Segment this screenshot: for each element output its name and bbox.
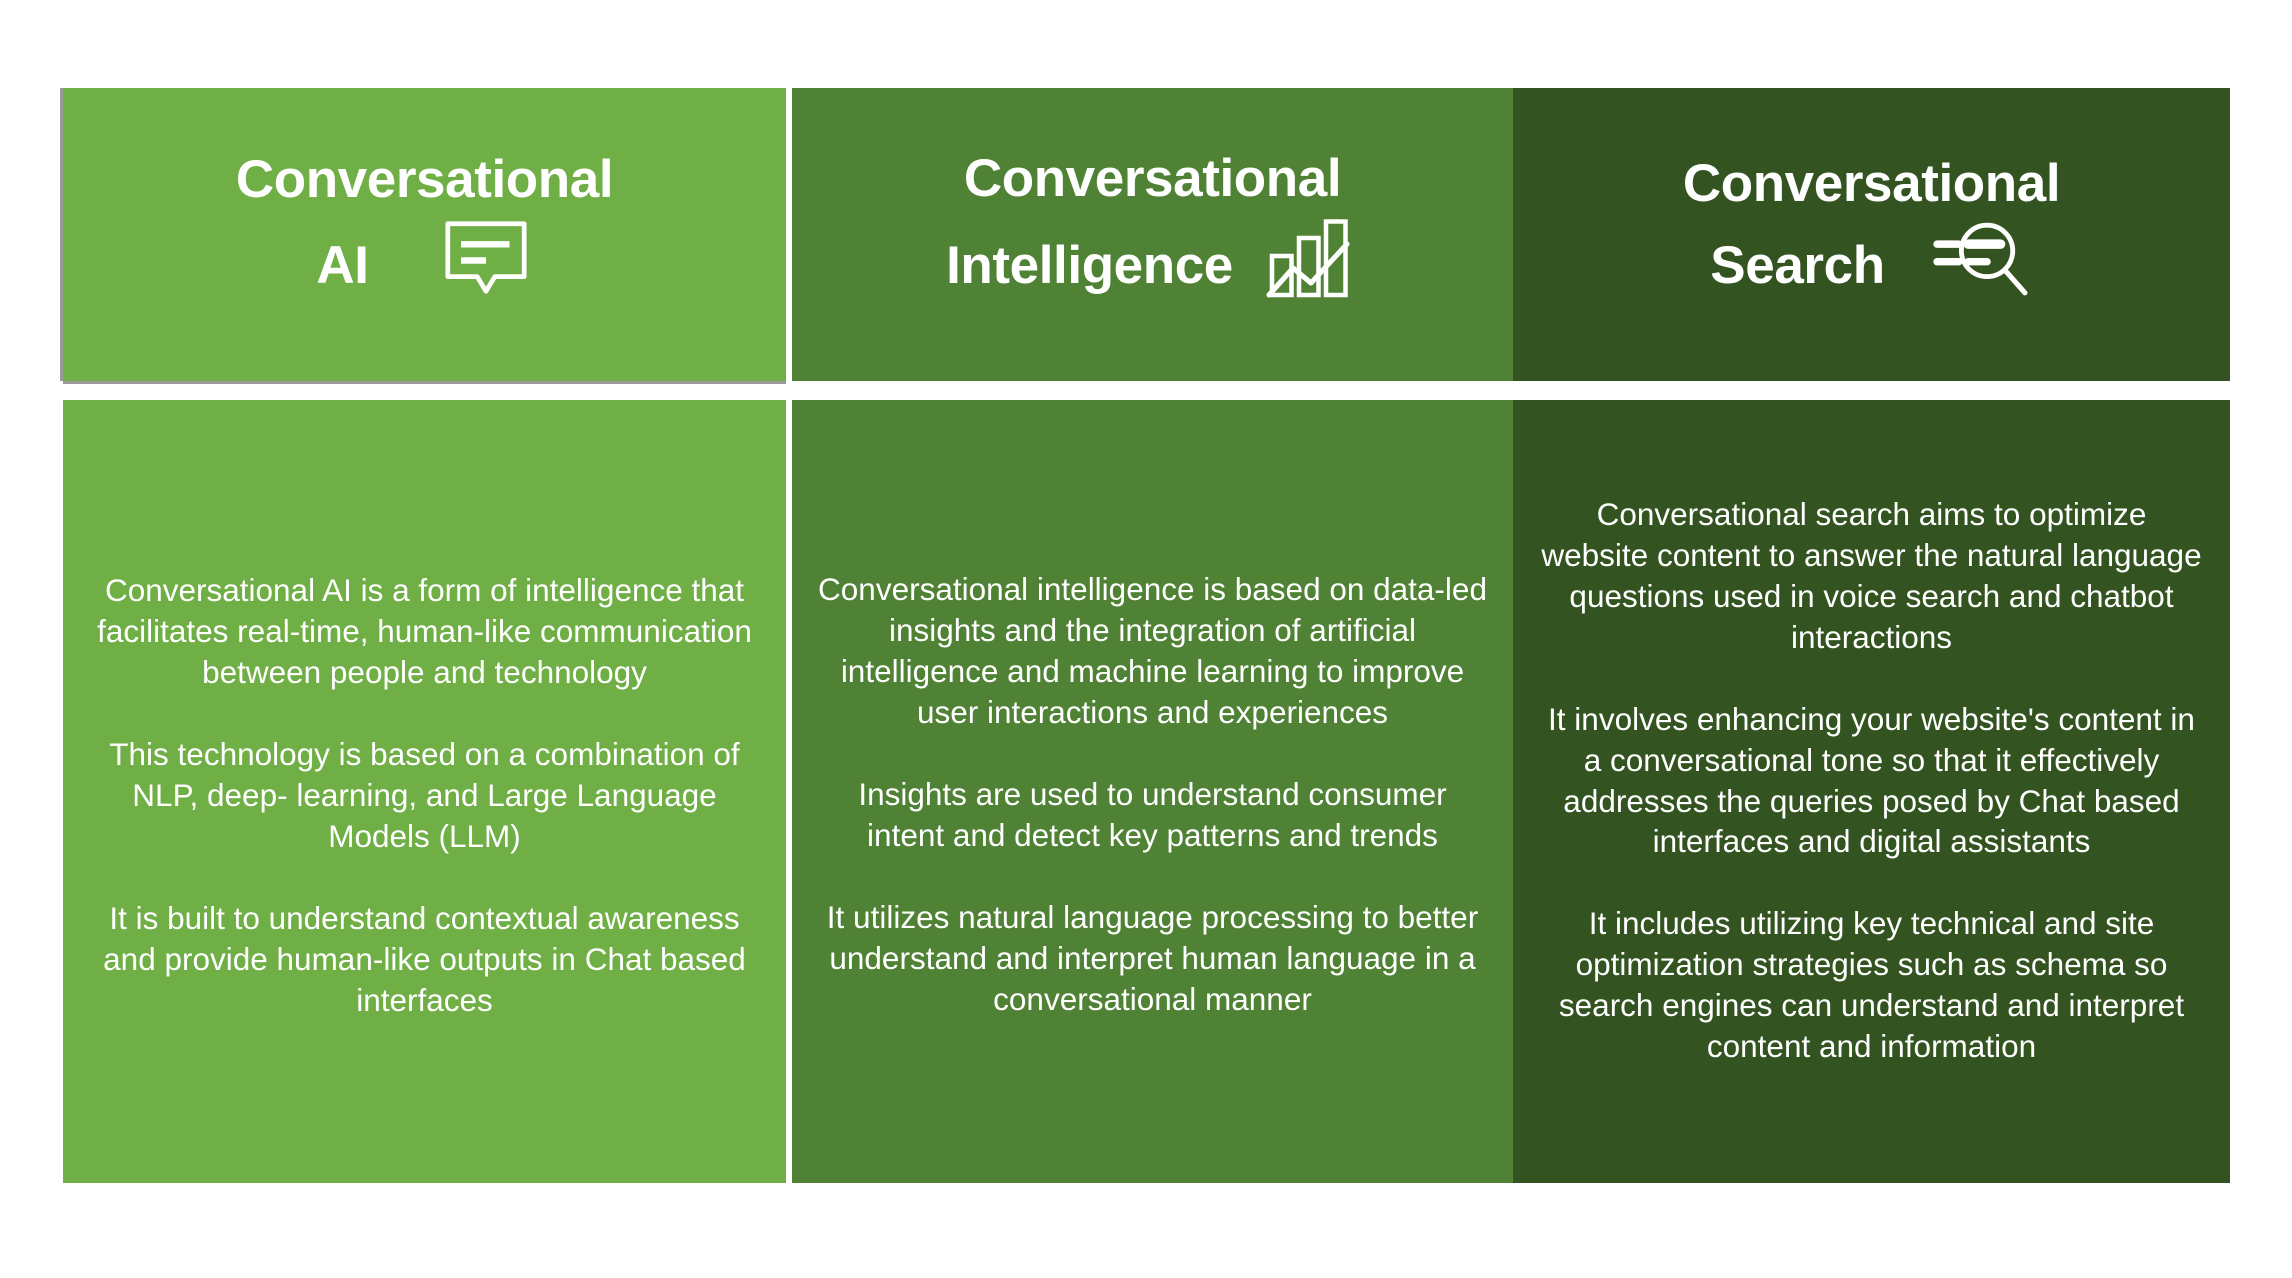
header-title-conversational-intelligence: Conversational Intelligence (946, 148, 1359, 321)
header-title-conversational-ai: Conversational AI (236, 149, 613, 320)
paragraph-stack: Conversational AI is a form of intellige… (89, 570, 760, 1020)
body-paragraph: Conversational AI is a form of intellige… (89, 570, 760, 693)
paragraph-stack: Conversational intelligence is based on … (818, 569, 1487, 1019)
header-title-line2: Search (1710, 235, 1884, 298)
header-title-line1: Conversational (946, 148, 1359, 211)
chat-bubble-icon (439, 212, 533, 321)
body-paragraph: It utilizes natural language processing … (818, 897, 1487, 1020)
body-paragraph: This technology is based on a combinatio… (89, 734, 760, 857)
body-paragraph: Insights are used to understand consumer… (818, 774, 1487, 856)
body-paragraph: Conversational search aims to optimize w… (1539, 494, 2204, 658)
bar-chart-trend-icon (1263, 211, 1359, 322)
header-card-conversational-search[interactable]: Conversational Search (1513, 88, 2230, 381)
body-card-conversational-search: Conversational search aims to optimize w… (1513, 400, 2230, 1183)
body-paragraph: It involves enhancing your website's con… (1539, 699, 2204, 863)
body-paragraph: Conversational intelligence is based on … (818, 569, 1487, 733)
comparison-slide: Conversational AI Conversational (0, 0, 2292, 1278)
body-row: Conversational AI is a form of intellige… (63, 400, 2230, 1183)
body-card-conversational-ai: Conversational AI is a form of intellige… (63, 400, 786, 1183)
header-card-conversational-ai[interactable]: Conversational AI (63, 88, 786, 381)
header-title-line1: Conversational (236, 149, 613, 212)
body-paragraph: It includes utilizing key technical and … (1539, 903, 2204, 1067)
header-row: Conversational AI Conversational (63, 88, 2230, 381)
header-title-line2: Intelligence (946, 235, 1233, 298)
header-title-conversational-search: Conversational Search (1683, 153, 2060, 316)
magnifier-lines-icon (1933, 216, 2033, 317)
body-card-conversational-intelligence: Conversational intelligence is based on … (792, 400, 1513, 1183)
header-title-line1: Conversational (1683, 153, 2060, 216)
paragraph-stack: Conversational search aims to optimize w… (1539, 494, 2204, 1067)
header-title-line2: AI (316, 235, 368, 298)
header-card-conversational-intelligence[interactable]: Conversational Intelligence (792, 88, 1513, 381)
body-paragraph: It is built to understand contextual awa… (89, 898, 760, 1021)
